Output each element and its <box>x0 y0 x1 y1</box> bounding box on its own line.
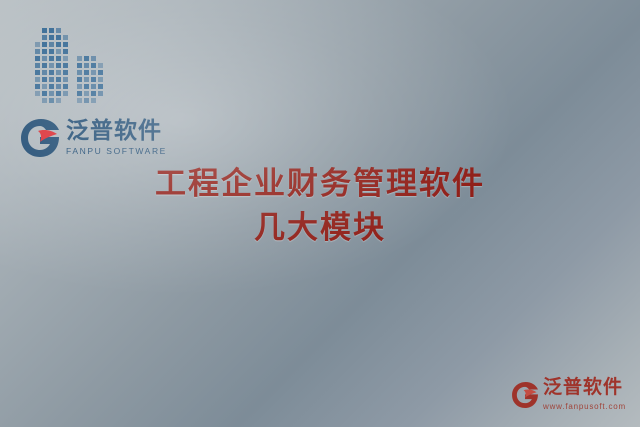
watermark: 泛普软件 www.fanpusoft.com <box>510 378 626 411</box>
page-title: 工程企业财务管理软件 几大模块 <box>0 162 640 250</box>
page-title-line-2: 几大模块 <box>0 206 640 250</box>
brand-name-en: FANPU SOFTWARE <box>66 147 167 156</box>
brand-name-cn: 泛普软件 <box>66 120 167 143</box>
brand-logo: 泛普软件 FANPU SOFTWARE <box>18 114 184 162</box>
brand-text: 泛普软件 FANPU SOFTWARE <box>66 120 167 156</box>
watermark-text: 泛普软件 www.fanpusoft.com <box>543 378 626 411</box>
fanpu-swoosh-icon <box>18 116 62 160</box>
watermark-url: www.fanpusoft.com <box>543 402 626 411</box>
watermark-fanpu-swoosh-icon <box>510 380 540 410</box>
slide-canvas: 泛普软件 FANPU SOFTWARE 工程企业财务管理软件 几大模块 泛普软件… <box>0 0 640 427</box>
page-title-line-1: 工程企业财务管理软件 <box>155 166 485 202</box>
watermark-name-cn: 泛普软件 <box>543 378 626 397</box>
pixel-building-icon <box>22 26 134 108</box>
